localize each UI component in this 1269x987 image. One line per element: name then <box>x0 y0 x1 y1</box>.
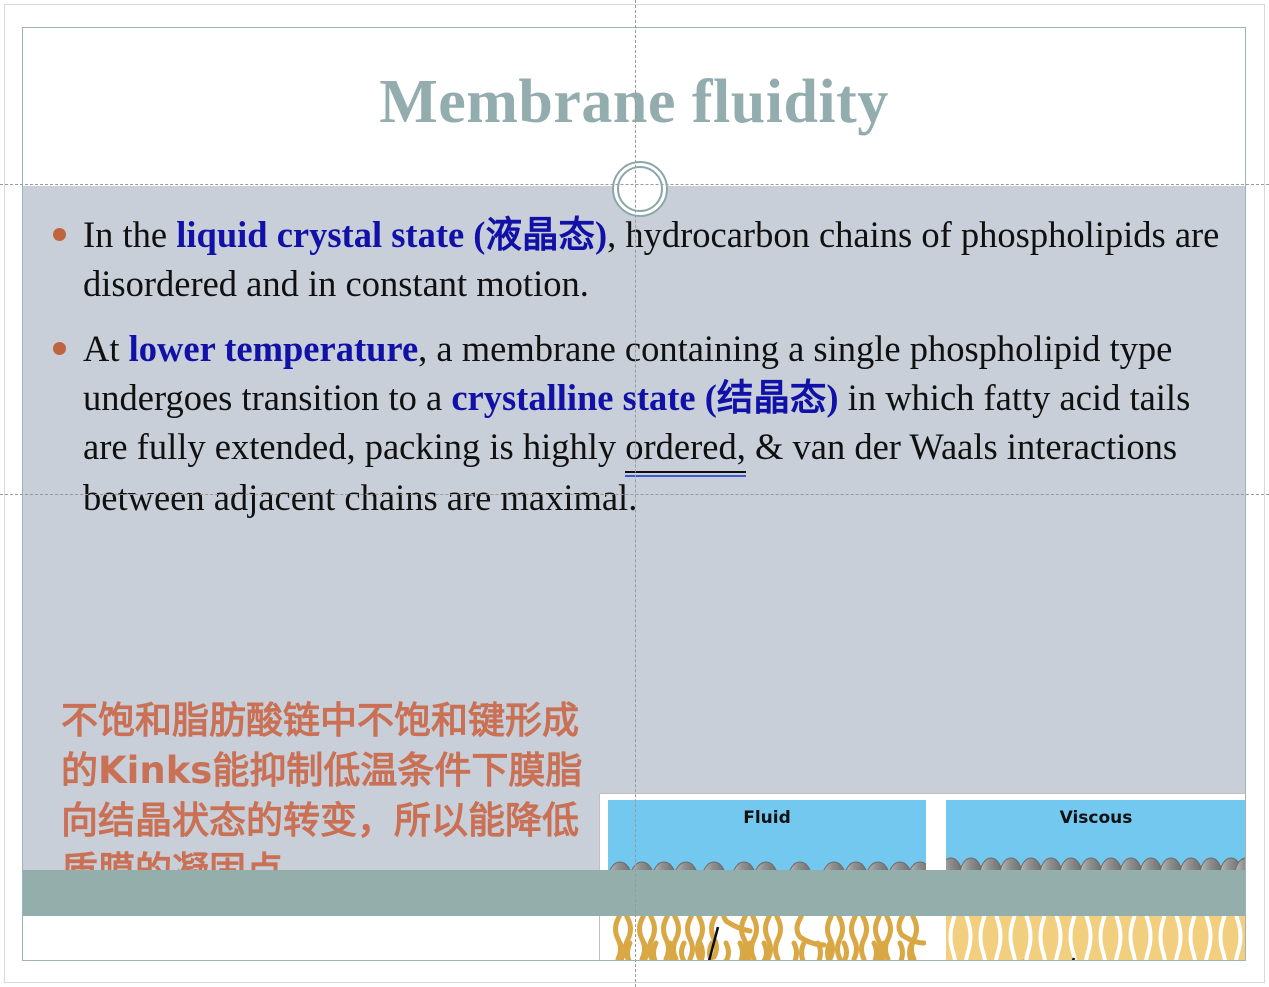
bullet-1-segment-plain-a: In the <box>83 214 176 255</box>
bullet-2-segment-highlight-d: crystalline state (结晶态) <box>451 377 838 418</box>
body-band: In the liquid crystal state (液晶态), hydro… <box>23 186 1245 916</box>
footer-band <box>23 870 1245 916</box>
presentation-slide[interactable]: Membrane fluidity In the liquid crystal … <box>22 27 1246 961</box>
chinese-annotation-text: 不饱和脂肪酸链中不饱和键形成的Kinks能抑制低温条件下膜脂向结晶状态的转变，所… <box>61 696 591 896</box>
bullet-dot-icon <box>53 228 66 241</box>
list-item[interactable]: In the liquid crystal state (液晶态), hydro… <box>37 210 1243 308</box>
bullet-1-segment-highlight-b: liquid crystal state (液晶态) <box>176 214 607 255</box>
bullet-2-segment-underlined-f: ordered, <box>625 422 746 473</box>
slide-editor-canvas: Membrane fluidity In the liquid crystal … <box>0 0 1269 987</box>
list-item[interactable]: At lower temperature, a membrane contain… <box>37 324 1243 522</box>
bullet-list: In the liquid crystal state (液晶态), hydro… <box>37 210 1243 538</box>
title-band: Membrane fluidity <box>23 28 1245 186</box>
bullet-2-segment-highlight-b: lower temperature <box>129 328 419 369</box>
bullet-2-text: At lower temperature, a membrane contain… <box>83 324 1243 522</box>
bullet-1-text: In the liquid crystal state (液晶态), hydro… <box>83 210 1243 308</box>
panel-title-viscous: Viscous <box>946 808 1246 828</box>
bullet-dot-icon <box>53 342 66 355</box>
page-title: Membrane fluidity <box>23 71 1245 133</box>
panel-title-fluid: Fluid <box>608 808 926 828</box>
bullet-2-segment-plain-a: At <box>83 328 129 369</box>
